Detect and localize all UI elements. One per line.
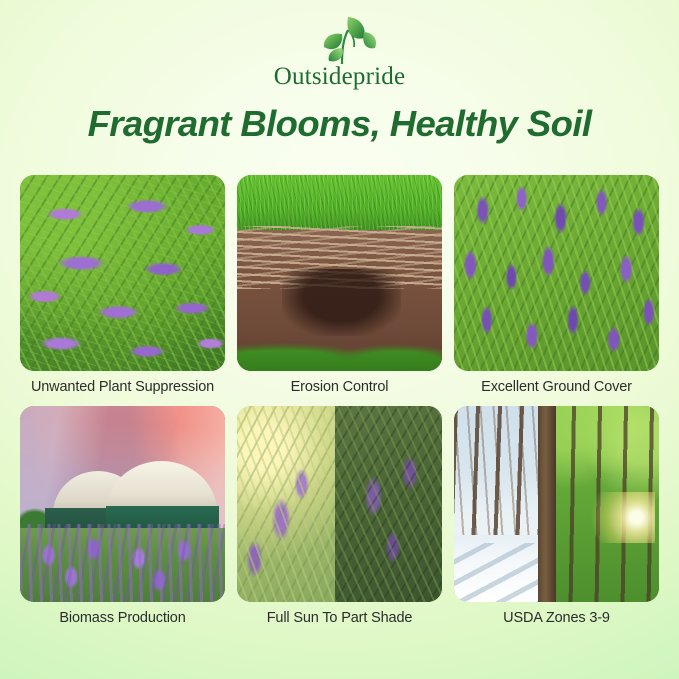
shade-half-vetch (335, 406, 442, 602)
feature-caption: Unwanted Plant Suppression (20, 379, 225, 395)
sun-half-vetch (237, 406, 335, 602)
feature-card-4: Biomass Production (20, 406, 225, 626)
feature-image-ground-cover (454, 175, 659, 371)
feature-caption: USDA Zones 3-9 (454, 610, 659, 626)
vetch-meadow-purple-blooms (20, 175, 225, 371)
feature-card-3: Excellent Ground Cover (454, 175, 659, 395)
feature-grid: Unwanted Plant Suppression Erosion Contr… (20, 175, 659, 626)
feature-card-6: USDA Zones 3-9 (454, 406, 659, 626)
feature-card-2: Erosion Control (237, 175, 442, 395)
feature-caption: Excellent Ground Cover (454, 379, 659, 395)
erosion-undercut-shadow (282, 269, 401, 336)
feature-card-5: Full Sun To Part Shade (237, 406, 442, 626)
product-feature-poster: Outsidepride Fragrant Blooms, Healthy So… (0, 0, 679, 679)
feature-card-1: Unwanted Plant Suppression (20, 175, 225, 395)
feature-caption: Full Sun To Part Shade (237, 610, 442, 626)
summer-sunburst (581, 492, 655, 543)
feature-image-sun-shade-split (237, 406, 442, 602)
feature-caption: Erosion Control (237, 379, 442, 395)
feature-image-vetch-meadow (20, 175, 225, 371)
feature-image-erosion-bank (237, 175, 442, 371)
ground-cover-purple-blooms (454, 175, 659, 371)
leaf-sprout-icon (298, 14, 382, 66)
page-title: Fragrant Blooms, Healthy Soil (0, 103, 679, 145)
brand-header: Outsidepride (0, 14, 679, 91)
biogas-field-blooms (20, 524, 225, 602)
center-divider-trunk (538, 406, 556, 602)
feature-image-biogas-sunset (20, 406, 225, 602)
feature-image-winter-summer-forest (454, 406, 659, 602)
feature-caption: Biomass Production (20, 610, 225, 626)
winter-tree-shadows (454, 543, 546, 602)
brand-name: Outsidepride (0, 63, 679, 91)
erosion-lower-grass (237, 338, 442, 371)
